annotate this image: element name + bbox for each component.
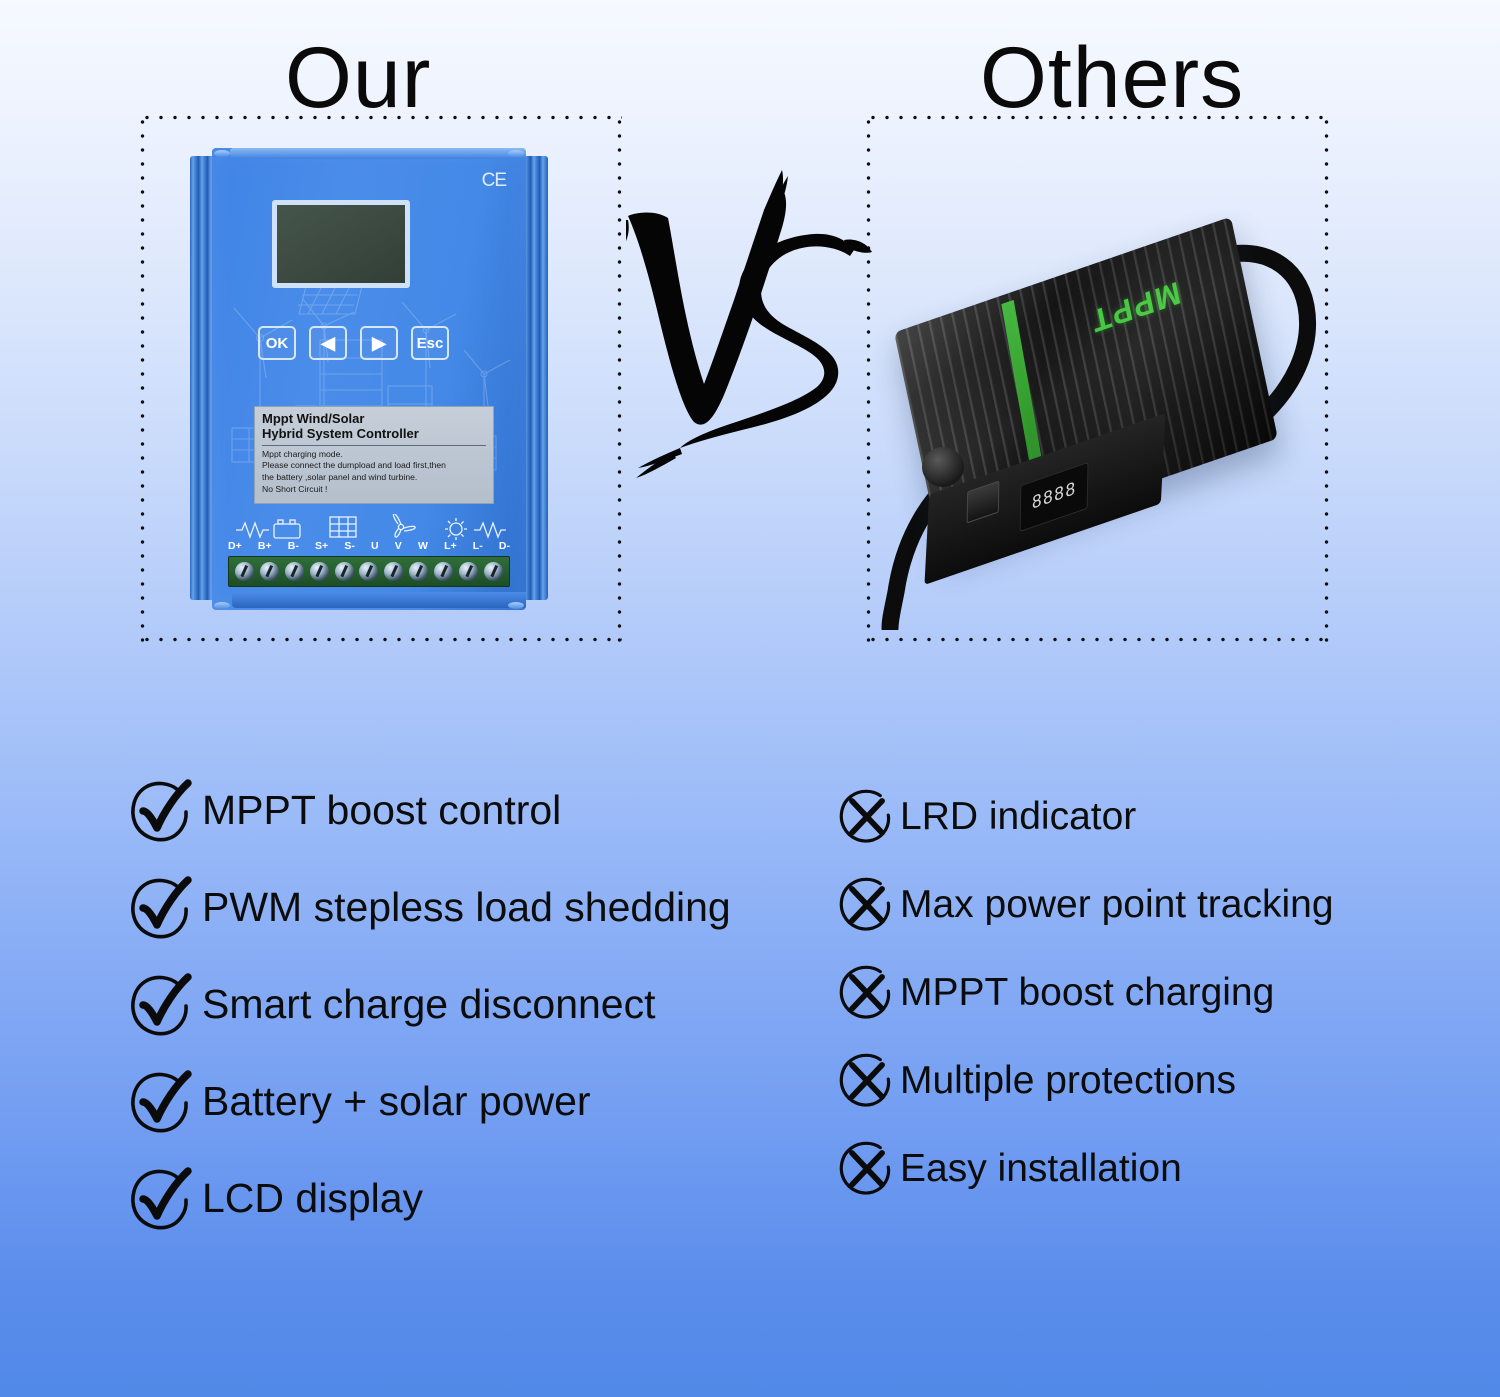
page-title-our: Our	[285, 35, 431, 121]
terminal-screw	[359, 562, 378, 581]
check-circle-icon	[126, 1067, 196, 1137]
our-feature-list: MPPT boost control PWM stepless load she…	[126, 762, 826, 1247]
terminal-label: S+	[315, 540, 328, 552]
list-item: PWM stepless load shedding	[126, 859, 826, 956]
terminal-screw	[384, 562, 403, 581]
terminal-screw	[285, 562, 304, 581]
list-item: Battery + solar power	[126, 1053, 826, 1150]
feature-label: PWM stepless load shedding	[202, 887, 731, 928]
nameplate-title-line2: Hybrid System Controller	[262, 427, 486, 442]
terminal-screw	[434, 562, 453, 581]
versus-brush-icon: VS	[626, 168, 876, 568]
ce-mark-icon: CE	[482, 170, 506, 192]
nameplate-body-line2: Please connect the dumpload and load fir…	[262, 460, 486, 472]
list-item: Easy installation	[836, 1124, 1476, 1212]
terminal-screw	[459, 562, 478, 581]
terminal-screw	[335, 562, 354, 581]
terminal-label: B+	[258, 540, 272, 552]
feature-label: MPPT boost control	[202, 790, 561, 831]
cross-circle-icon	[836, 961, 898, 1023]
other-feature-list: LRD indicator Max power point tracking M…	[836, 772, 1476, 1212]
our-product-image: CE	[190, 148, 548, 611]
feature-label: Easy installation	[900, 1149, 1182, 1188]
terminal-block	[228, 556, 510, 587]
terminal-screw	[484, 562, 503, 581]
comparison-stage: Our Others CE	[0, 0, 1500, 1397]
terminal-label-row: D+ B+ B- S+ S- U V W L+ L- D-	[228, 540, 510, 552]
list-item: LCD display	[126, 1150, 826, 1247]
list-item: Max power point tracking	[836, 860, 1476, 948]
feature-label: Max power point tracking	[900, 885, 1334, 924]
terminal-label: L+	[444, 540, 457, 552]
feature-label: LRD indicator	[900, 797, 1136, 836]
nameplate-body-line4: No Short Circuit !	[262, 484, 486, 496]
cross-circle-icon	[836, 1049, 898, 1111]
feature-label: LCD display	[202, 1178, 423, 1219]
terminal-icon-row	[232, 514, 506, 540]
key-right[interactable]: ▶	[360, 326, 398, 360]
list-item: Smart charge disconnect	[126, 956, 826, 1053]
list-item: LRD indicator	[836, 772, 1476, 860]
lcd-screen	[272, 200, 410, 288]
terminal-label: S-	[344, 540, 355, 552]
feature-label: Multiple protections	[900, 1061, 1236, 1100]
controller-bottom-cap	[232, 592, 526, 608]
terminal-label: D-	[499, 540, 510, 552]
check-circle-icon	[126, 970, 196, 1040]
terminal-label: D+	[228, 540, 242, 552]
terminal-screw	[260, 562, 279, 581]
feature-label: Battery + solar power	[202, 1081, 591, 1122]
key-esc[interactable]: Esc	[411, 326, 449, 360]
list-item: MPPT boost control	[126, 762, 826, 859]
list-item: MPPT boost charging	[836, 948, 1476, 1036]
nameplate-title-line1: Mppt Wind/Solar	[262, 412, 486, 427]
page-title-others: Others	[980, 35, 1244, 121]
terminal-label: B-	[288, 540, 299, 552]
key-ok[interactable]: OK	[258, 326, 296, 360]
feature-label: MPPT boost charging	[900, 973, 1274, 1012]
case-screw	[214, 602, 230, 609]
terminal-screw	[409, 562, 428, 581]
controller-nameplate: Mppt Wind/Solar Hybrid System Controller…	[254, 406, 494, 504]
feature-label: Smart charge disconnect	[202, 984, 656, 1025]
controller-top-cap	[230, 148, 526, 159]
nameplate-body-line3: the battery ,solar panel and wind turbin…	[262, 472, 486, 484]
check-circle-icon	[126, 1164, 196, 1234]
cross-circle-icon	[836, 873, 898, 935]
terminal-screw	[235, 562, 254, 581]
list-item: Multiple protections	[836, 1036, 1476, 1124]
cable-gland-knob	[922, 447, 964, 487]
terminal-label: W	[418, 540, 428, 552]
key-left[interactable]: ◀	[309, 326, 347, 360]
case-screw	[214, 150, 230, 157]
cross-circle-icon	[836, 1137, 898, 1199]
terminal-label: U	[371, 540, 379, 552]
terminal-screw	[310, 562, 329, 581]
controller-keypad[interactable]: OK ◀ ▶ Esc	[258, 326, 488, 360]
check-circle-icon	[126, 873, 196, 943]
terminal-label: L-	[473, 540, 483, 552]
check-circle-icon	[126, 776, 196, 846]
nameplate-divider	[262, 445, 486, 446]
terminal-label: V	[395, 540, 402, 552]
case-screw	[508, 602, 524, 609]
other-product-image: MPPT 8888	[880, 225, 1330, 625]
controller-body: CE	[212, 148, 526, 610]
nameplate-body-line1: Mppt charging mode.	[262, 449, 486, 461]
case-screw	[508, 150, 524, 157]
cross-circle-icon	[836, 785, 898, 847]
